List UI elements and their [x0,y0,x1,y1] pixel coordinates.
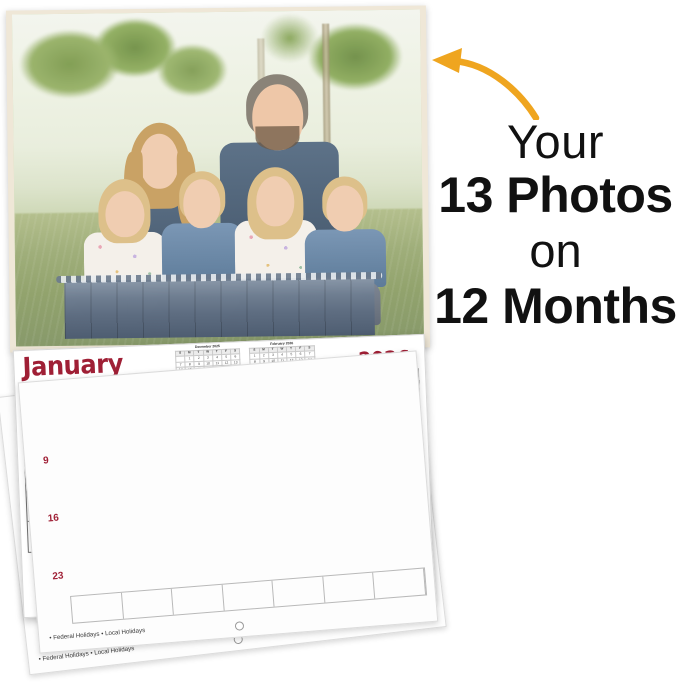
promo-line-3: on [432,227,679,275]
holiday-legend: • Federal Holidays • Local Holidays [49,627,145,642]
calendar-empty-row [70,567,427,623]
promo-line-2: 13 Photos [432,170,679,221]
peek-day-number: 23 [52,570,64,582]
peek-day-number: 9 [43,455,49,466]
punch-hole-icon [234,621,244,631]
promo-text: Your 13 Photos on 12 Months [432,118,679,332]
calendar-page-stack-middle: 9 16 23 • Federal Holidays • Local Holid… [18,350,439,653]
peek-day-number: 16 [47,513,59,525]
curved-arrow-left-icon [428,48,548,120]
screenshot-canvas: 1 23 • Federal Holidays • Local Holidays… [0,0,679,685]
calendar-photo-panel [6,5,430,352]
family-photo [12,10,424,347]
photo-bench-planks [64,279,375,339]
promo-line-1: Your [432,118,679,166]
promo-line-4: 12 Months [432,281,679,332]
